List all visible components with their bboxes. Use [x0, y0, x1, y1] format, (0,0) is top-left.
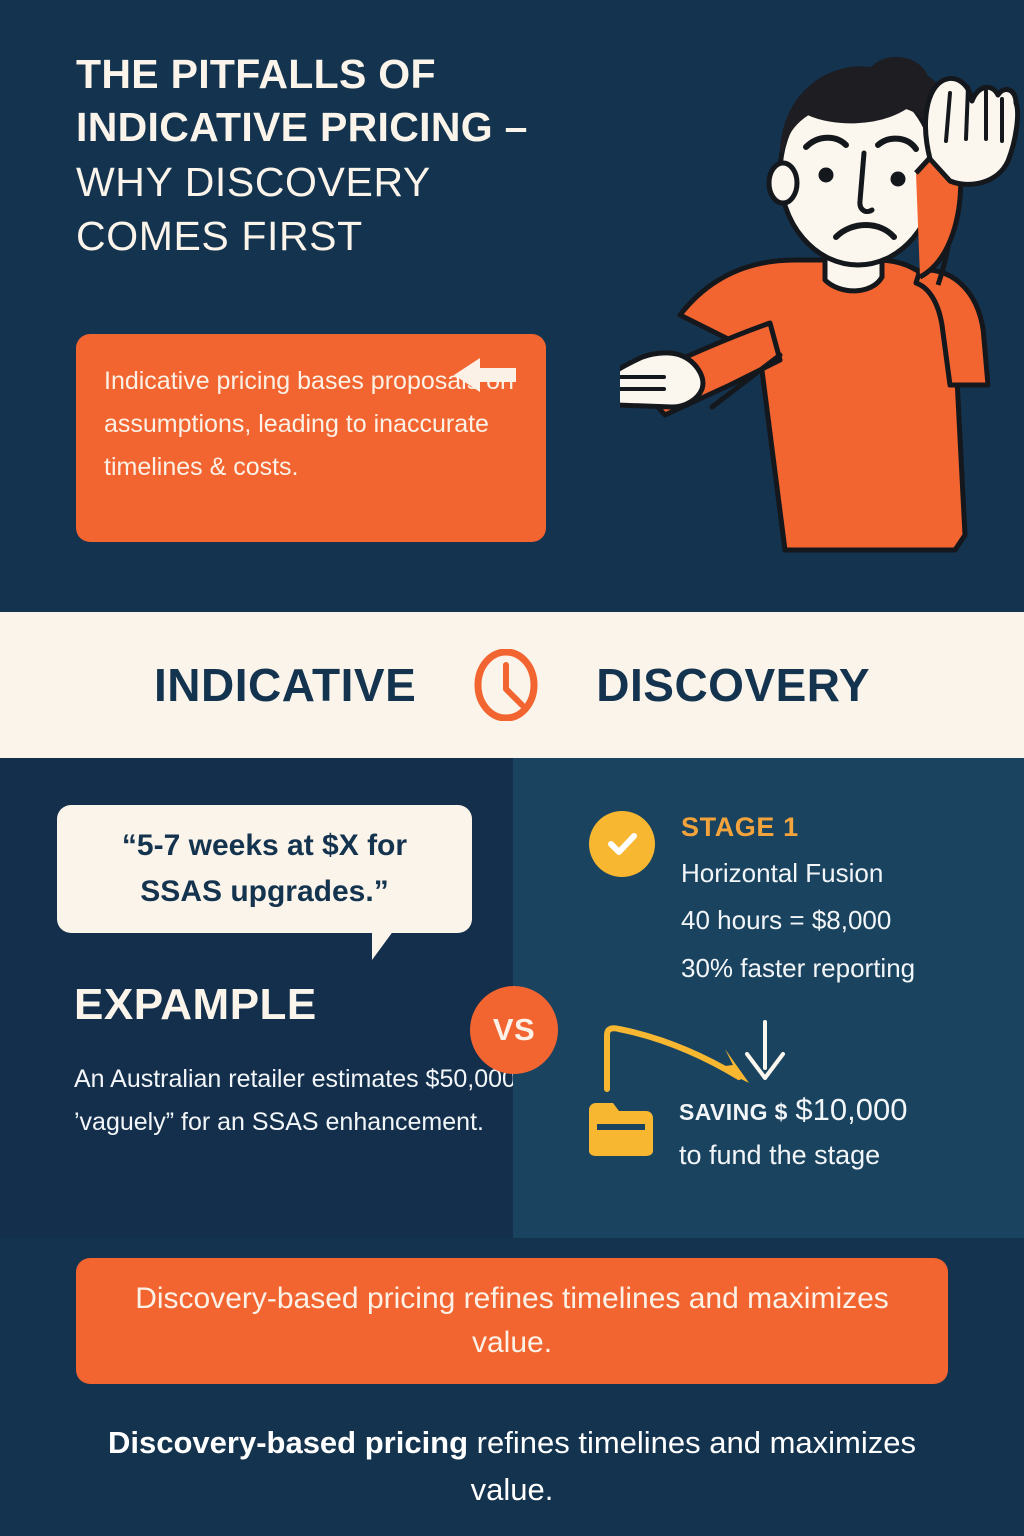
check-circle-icon — [589, 811, 655, 877]
infographic-root: THE PITFALLS OF INDICATIVE PRICING – WHY… — [0, 0, 1024, 1536]
stage-label: STAGE 1 — [681, 812, 799, 843]
stage-detail-line: 40 hours = $8,000 — [681, 897, 1011, 944]
footer-text: Discovery-based pricing refines timeline… — [92, 1420, 932, 1513]
stage-detail-list: Horizontal Fusion 40 hours = $8,000 30% … — [681, 850, 1011, 992]
title-line-2: INDICATIVE PRICING – — [76, 101, 696, 154]
saving-subtext: to fund the stage — [679, 1135, 1019, 1177]
vs-label: VS — [493, 1012, 535, 1048]
quote-bubble: “5-7 weeks at $X for SSAS upgrades.” — [57, 805, 472, 933]
saving-amount: $10,000 — [795, 1092, 907, 1127]
stage-detail-line: Horizontal Fusion — [681, 850, 1011, 897]
discovery-column: STAGE 1 Horizontal Fusion 40 hours = $8,… — [513, 758, 1024, 1238]
quote-bubble-tail — [372, 930, 394, 960]
check-mark-icon — [602, 824, 642, 864]
summary-banner: Discovery-based pricing refines timeline… — [76, 1258, 948, 1384]
title-line-3: WHY DISCOVERY — [76, 155, 696, 209]
page-title: THE PITFALLS OF INDICATIVE PRICING – WHY… — [76, 48, 696, 263]
example-heading: EXPAMPLE — [74, 980, 317, 1030]
summary-banner-text: Discovery-based pricing refines timeline… — [112, 1277, 912, 1366]
saving-label: SAVING $ — [679, 1099, 788, 1125]
saving-amount-row: SAVING $ $10,000 — [679, 1088, 1019, 1131]
band-label-indicative: INDICATIVE — [154, 658, 416, 712]
comparison-band: INDICATIVE DISCOVERY — [0, 612, 1024, 758]
title-line-4: COMES FIRST — [76, 209, 696, 263]
clock-icon — [470, 649, 542, 721]
vs-badge: VS — [470, 986, 558, 1074]
example-body: An Australian retailer estimates $50,000… — [74, 1058, 519, 1145]
title-line-1: THE PITFALLS OF — [76, 48, 696, 101]
band-label-discovery: DISCOVERY — [596, 658, 870, 712]
quote-text: “5-7 weeks at $X for SSAS upgrades.” — [83, 823, 446, 914]
saving-block: SAVING $ $10,000 to fund the stage — [679, 1088, 1019, 1177]
folder-icon — [585, 1098, 657, 1160]
footer: Discovery-based pricing refines timeline… — [92, 1420, 932, 1513]
curved-arrow-icon — [599, 1023, 769, 1095]
stage-detail-line: 30% faster reporting — [681, 945, 1011, 992]
footer-bold: Discovery-based pricing — [108, 1425, 477, 1460]
footer-light: refines timelines and maximizes value. — [471, 1425, 916, 1507]
arrow-left-icon — [452, 355, 518, 395]
indicative-column: “5-7 weeks at $X for SSAS upgrades.” EXP… — [0, 758, 513, 1238]
hero-section: THE PITFALLS OF INDICATIVE PRICING – WHY… — [0, 0, 1024, 612]
worried-man-illustration — [620, 55, 1020, 612]
